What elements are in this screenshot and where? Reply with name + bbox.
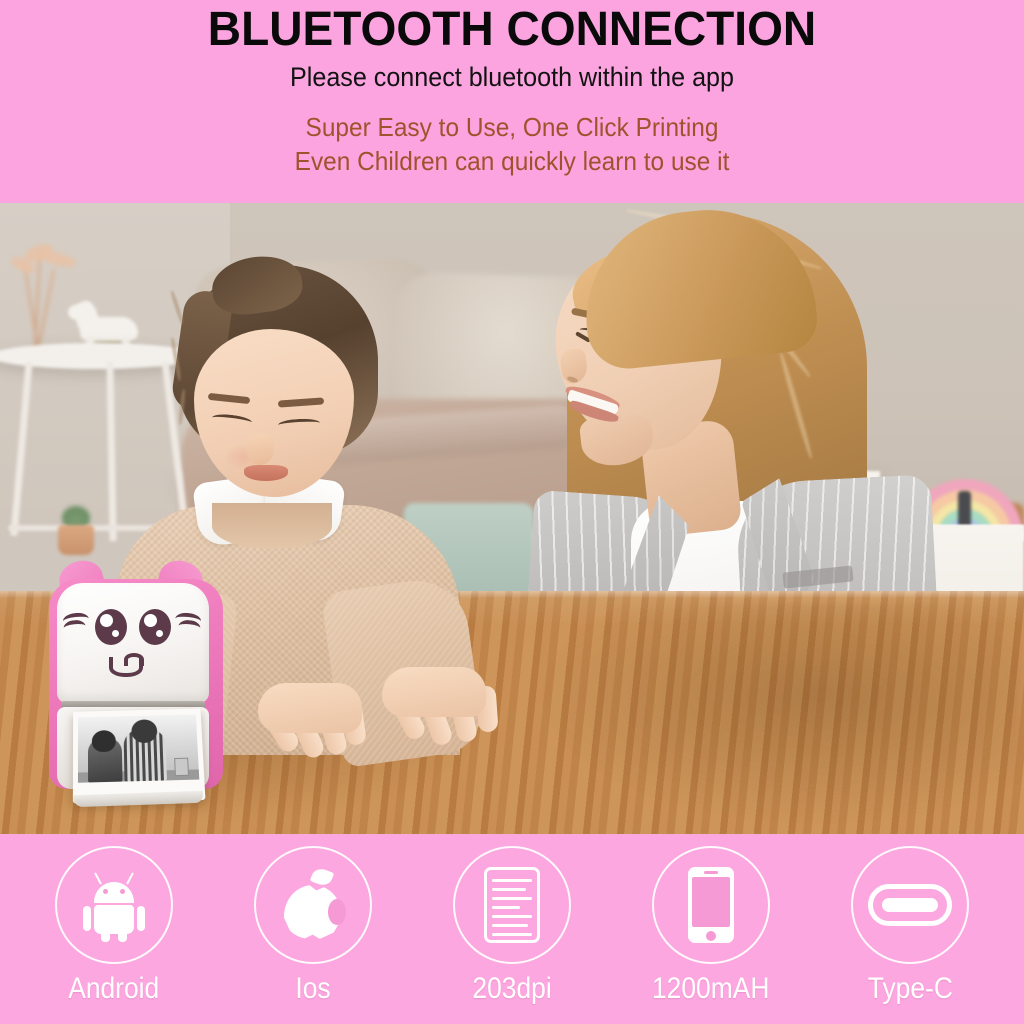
table-grain (520, 603, 1020, 833)
feature-label: Ios (295, 972, 330, 1006)
printed-photo (73, 709, 206, 804)
woman-hair-top (576, 203, 820, 373)
girl-lips (244, 465, 288, 481)
feature-battery[interactable]: 1200mAH (622, 834, 800, 1006)
girl-hand-right (372, 667, 522, 747)
feature-list: Android Ios (0, 834, 1024, 1024)
android-robot-icon (83, 870, 145, 940)
feature-label: 203dpi (472, 972, 551, 1006)
printer-eye-right-icon (139, 609, 171, 645)
product-marketing-banner: BLUETOOTH CONNECTION Please connect blue… (0, 0, 1024, 1024)
feature-ios[interactable]: Ios (224, 834, 402, 1006)
promo-line-1: Super Easy to Use, One Click Printing (31, 112, 994, 143)
header-banner: BLUETOOTH CONNECTION Please connect blue… (0, 0, 1024, 203)
smartphone-icon (688, 867, 734, 943)
girl-hand-left (248, 683, 388, 761)
printer-front-panel (57, 583, 209, 703)
feature-label: Android (68, 972, 159, 1006)
printer-mouth-icon (109, 657, 143, 677)
feature-android[interactable]: Android (25, 834, 203, 1006)
printer-blush-right-icon (174, 612, 202, 631)
feature-icon-circle (55, 846, 173, 964)
girl-nose (246, 433, 274, 465)
feature-icon-circle (652, 846, 770, 964)
feature-label: Type-C (868, 972, 953, 1006)
feature-resolution[interactable]: 203dpi (423, 834, 601, 1006)
usb-type-c-port-icon (868, 884, 952, 926)
page-title: BLUETOOTH CONNECTION (20, 6, 1003, 55)
girl-neckline (212, 503, 332, 549)
promo-line-2: Even Children can quickly learn to use i… (31, 146, 994, 177)
potted-plant (58, 525, 94, 555)
printer-eye-left-icon (95, 609, 127, 645)
apple-logo-icon (282, 869, 344, 941)
pocket-thermal-printer (47, 561, 227, 791)
feature-icon-circle (851, 846, 969, 964)
printer-blush-left-icon (62, 612, 90, 631)
lifestyle-photo (0, 203, 1024, 834)
header-subtitle: Please connect bluetooth within the app (36, 62, 988, 93)
feature-typec[interactable]: Type-C (821, 834, 999, 1006)
document-lines-icon (484, 867, 540, 943)
feature-icon-circle (453, 846, 571, 964)
feature-bar: Android Ios (0, 834, 1024, 1024)
feature-label: 1200mAH (652, 972, 769, 1006)
feature-icon-circle (254, 846, 372, 964)
